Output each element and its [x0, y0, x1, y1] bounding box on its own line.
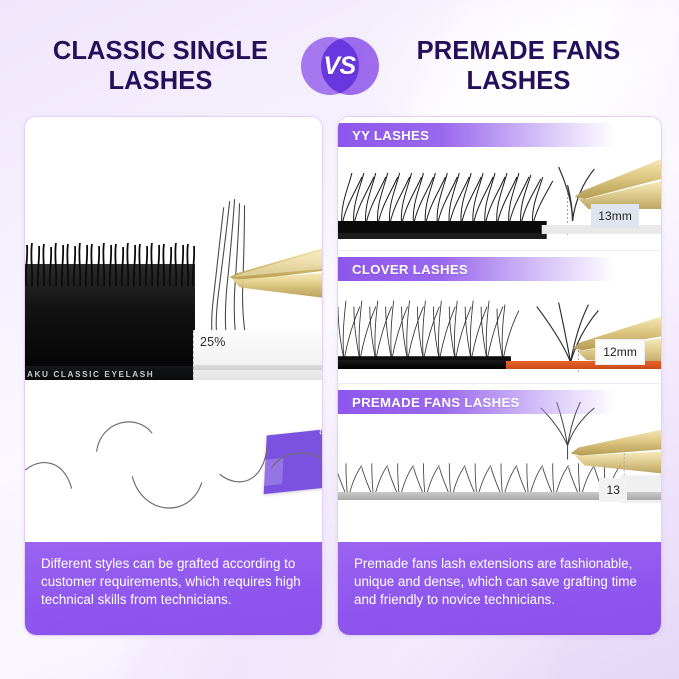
right-panel-body: 13mm YY LASHES [338, 117, 661, 542]
vs-badge: VS [301, 35, 379, 97]
brand-text: AKU CLASSIC EYELASH [25, 370, 154, 379]
section-yy-lashes: 13mm YY LASHES [338, 117, 661, 250]
section-label-text: PREMADE FANS LASHES [338, 395, 520, 410]
left-caption: Different styles can be grafted accordin… [25, 542, 322, 635]
size-badge-yy: 13mm [591, 204, 639, 228]
premade-fans-lashes-panel: 13mm YY LASHES [337, 116, 662, 636]
clover-tray-base [338, 360, 510, 369]
left-panel-body: 25% AKU CLASSIC EYELASH mple [25, 117, 322, 542]
size-badge-clover: 12mm [595, 339, 645, 365]
size-badge-premade: 13 [599, 478, 627, 502]
vs-label: VS [301, 35, 379, 97]
header: CLASSIC SINGLE LASHES VS PREMADE FANS LA… [0, 26, 679, 106]
section-premade-fans-lashes: 13 PREMADE FANS LASHES [338, 383, 661, 516]
section-label-text: CLOVER LASHES [338, 262, 468, 277]
left-title: CLASSIC SINGLE LASHES [29, 36, 301, 96]
section-label-text: YY LASHES [338, 128, 429, 143]
section-label-yy: YY LASHES [338, 123, 661, 147]
section-label-premade: PREMADE FANS LASHES [338, 390, 661, 414]
section-clover-lashes: 12mm CLOVER LASHES [338, 250, 661, 383]
right-title: PREMADE FANS LASHES [379, 36, 651, 96]
section-label-clover: CLOVER LASHES [338, 257, 661, 281]
right-caption: Premade fans lash extensions are fashion… [338, 542, 661, 635]
infographic-page: CLASSIC SINGLE LASHES VS PREMADE FANS LA… [0, 0, 679, 679]
loose-single-lashes-illustration [25, 117, 322, 542]
classic-single-lashes-panel: 25% AKU CLASSIC EYELASH mple [24, 116, 323, 636]
